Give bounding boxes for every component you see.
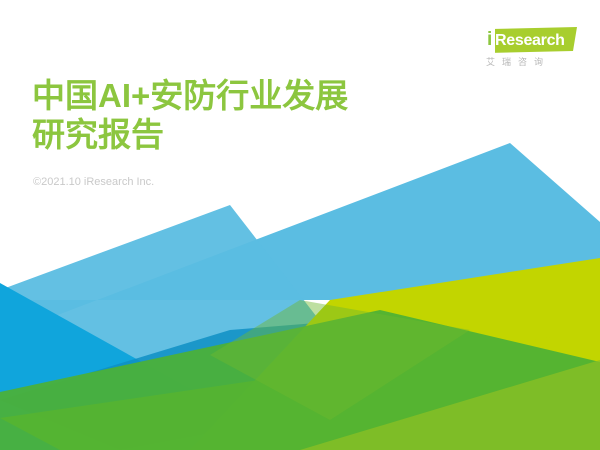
title-line-1: 中国AI+安防行业发展 — [32, 76, 452, 115]
copyright-text: ©2021.10 iResearch Inc. — [33, 175, 154, 189]
title-line-2: 研究报告 — [32, 115, 452, 154]
title-slide: i Research 艾瑞咨询 中国AI+安防行业发展 研究报告 ©2021.1… — [0, 0, 600, 450]
logo-wordmark: Research — [495, 31, 565, 50]
iresearch-logo: i Research 艾瑞咨询 — [481, 27, 581, 75]
page-title: 中国AI+安防行业发展 研究报告 — [32, 76, 452, 154]
logo-letter-i: i — [487, 30, 492, 50]
logo-chinese-name: 艾瑞咨询 — [486, 56, 578, 68]
logo-mark: i Research — [481, 27, 581, 55]
